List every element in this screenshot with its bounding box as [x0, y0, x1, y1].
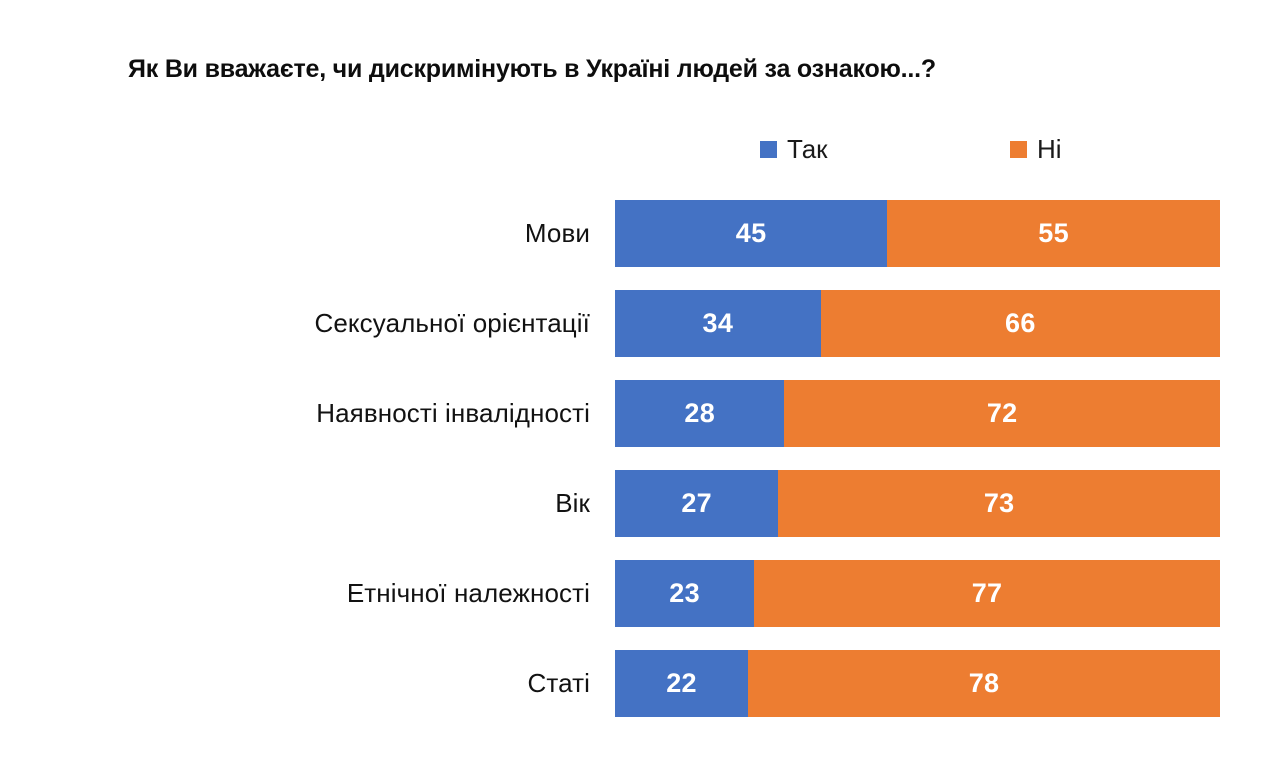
bar-value-label: 23 — [669, 580, 700, 607]
bar-value-label: 66 — [1005, 310, 1036, 337]
bar-segment-yes[interactable]: 34 — [615, 290, 821, 357]
bar-segment-no[interactable]: 73 — [778, 470, 1220, 537]
bar-value-label: 78 — [969, 670, 1000, 697]
bar-segment-no[interactable]: 55 — [887, 200, 1220, 267]
plot-area: Мови4555Сексуальної орієнтації3466Наявно… — [0, 200, 1280, 717]
bar-track: 3466 — [615, 290, 1220, 357]
bar-value-label: 45 — [736, 220, 767, 247]
bar-value-label: 34 — [703, 310, 734, 337]
bar-row: Вік2773 — [0, 470, 1280, 537]
bar-segment-yes[interactable]: 45 — [615, 200, 887, 267]
bar-segment-no[interactable]: 66 — [821, 290, 1220, 357]
bar-track: 2278 — [615, 650, 1220, 717]
bar-track: 4555 — [615, 200, 1220, 267]
bar-segment-yes[interactable]: 27 — [615, 470, 778, 537]
chart-title: Як Ви вважаєте, чи дискримінують в Украї… — [128, 55, 936, 84]
bar-row: Сексуальної орієнтації3466 — [0, 290, 1280, 357]
bar-track: 2773 — [615, 470, 1220, 537]
bar-value-label: 55 — [1038, 220, 1069, 247]
chart-legend: Так Ні — [755, 131, 1085, 167]
bar-value-label: 77 — [972, 580, 1003, 607]
bar-segment-no[interactable]: 77 — [754, 560, 1220, 627]
bar-value-label: 72 — [987, 400, 1018, 427]
bar-track: 2872 — [615, 380, 1220, 447]
bar-value-label: 73 — [984, 490, 1015, 517]
legend-item-yes[interactable]: Так — [760, 131, 828, 167]
bar-row: Етнічної належності2377 — [0, 560, 1280, 627]
category-label: Вік — [555, 470, 590, 537]
bar-value-label: 22 — [666, 670, 697, 697]
category-label: Мови — [525, 200, 590, 267]
bar-track: 2377 — [615, 560, 1220, 627]
legend-label-yes: Так — [787, 136, 828, 162]
stacked-bar-chart: Як Ви вважаєте, чи дискримінують в Украї… — [0, 0, 1280, 764]
legend-swatch-no-icon — [1010, 141, 1027, 158]
bar-row: Статі2278 — [0, 650, 1280, 717]
bar-segment-yes[interactable]: 28 — [615, 380, 784, 447]
bar-segment-no[interactable]: 78 — [748, 650, 1220, 717]
bar-segment-no[interactable]: 72 — [784, 380, 1220, 447]
bar-segment-yes[interactable]: 22 — [615, 650, 748, 717]
legend-swatch-yes-icon — [760, 141, 777, 158]
category-label: Сексуальної орієнтації — [314, 290, 590, 357]
legend-item-no[interactable]: Ні — [1010, 131, 1062, 167]
category-label: Наявності інвалідності — [316, 380, 590, 447]
legend-label-no: Ні — [1037, 136, 1062, 162]
category-label: Статі — [528, 650, 590, 717]
bar-value-label: 27 — [681, 490, 712, 517]
bar-value-label: 28 — [684, 400, 715, 427]
bar-segment-yes[interactable]: 23 — [615, 560, 754, 627]
bar-row: Наявності інвалідності2872 — [0, 380, 1280, 447]
category-label: Етнічної належності — [347, 560, 590, 627]
bar-row: Мови4555 — [0, 200, 1280, 267]
